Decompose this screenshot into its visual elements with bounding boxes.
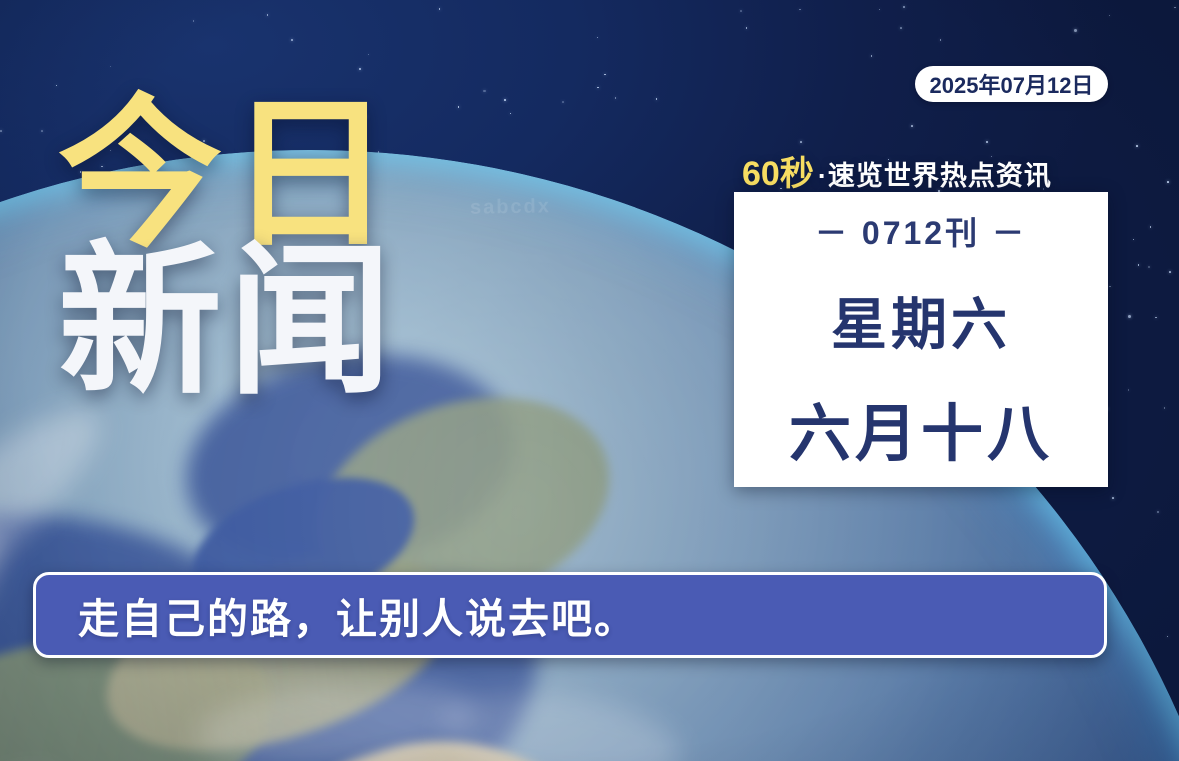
weekday-label: 星期六 xyxy=(831,280,1011,361)
subtitle-text: ·速览世界热点资讯 xyxy=(818,154,1052,193)
background-watermark: sabcdx xyxy=(470,195,551,219)
subtitle-seconds: 60秒 xyxy=(742,146,814,195)
page-title-line-2: 新闻 xyxy=(58,243,398,400)
subtitle: 60秒 ·速览世界热点资讯 xyxy=(742,146,1052,195)
quote-text: 走自己的路，让别人说去吧。 xyxy=(78,585,637,645)
date-badge: 2025年07月12日 xyxy=(915,66,1108,102)
issue-number: － 0712刊 － xyxy=(815,208,1027,254)
page-title: 今日 新闻 xyxy=(58,96,398,401)
news-poster: sabcdx 今日 新闻 2025年07月12日 60秒 ·速览世界热点资讯 －… xyxy=(0,0,1179,761)
quote-banner: 走自己的路，让别人说去吧。 xyxy=(33,572,1107,658)
date-card: － 0712刊 － 星期六 六月十八 xyxy=(734,192,1108,487)
lunar-date: 六月十八 xyxy=(789,383,1053,473)
